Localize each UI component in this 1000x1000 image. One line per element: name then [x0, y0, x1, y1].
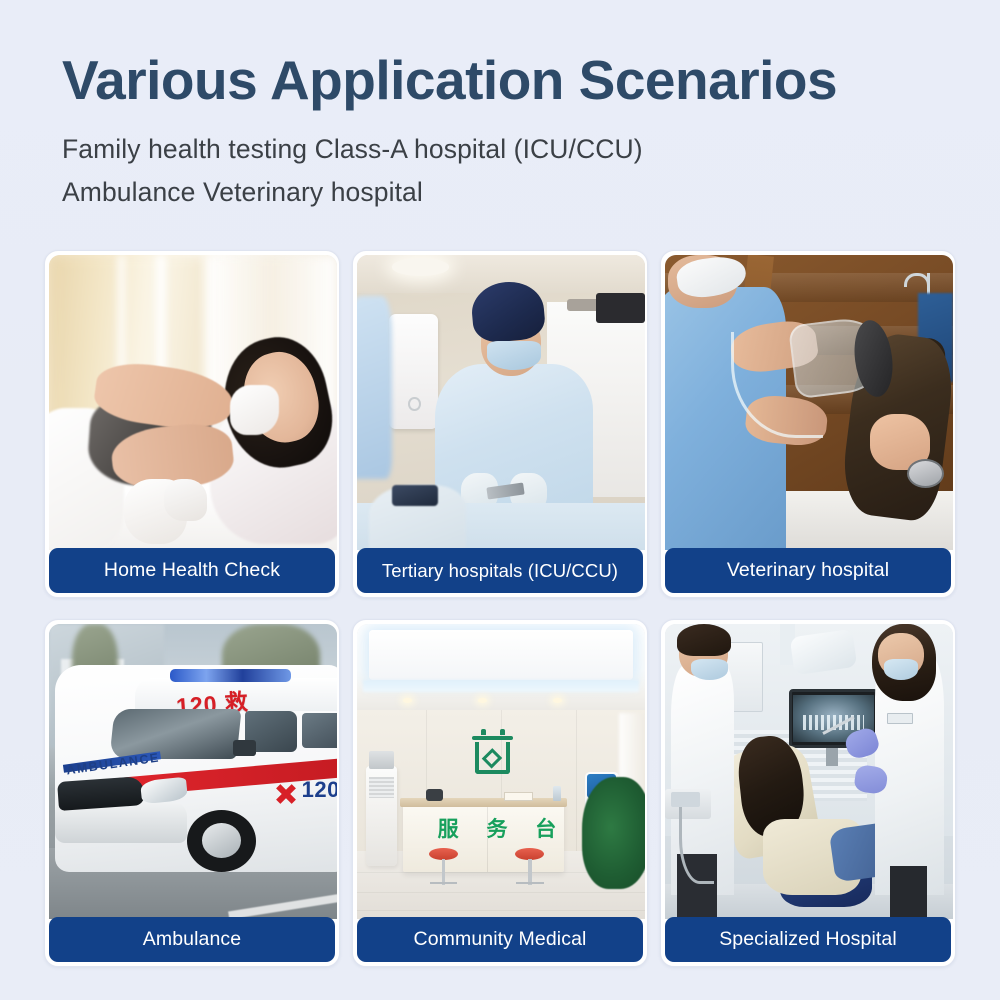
photo-woman-sick-in-bed — [49, 255, 337, 550]
scenario-card-community-medical[interactable]: 服 务 台 Communit — [352, 619, 648, 967]
card-caption-text: Veterinary hospital — [727, 559, 889, 582]
card-caption-text: Community Medical — [414, 928, 587, 951]
desk-bottle — [553, 786, 562, 801]
application-scenarios-page: Various Application Scenarios Family hea… — [0, 0, 1000, 1000]
stool-legs — [430, 882, 458, 894]
wall-monitor — [596, 293, 645, 323]
card-caption-bar: Ambulance — [49, 917, 335, 962]
surgical-mask — [487, 341, 542, 371]
cove-light — [363, 680, 639, 692]
dentist-left-hair — [677, 624, 732, 656]
dentist-left-mask — [691, 659, 728, 680]
desk-telephone — [426, 789, 443, 801]
red-stool — [513, 848, 548, 895]
clinic-logo-roof — [472, 736, 512, 740]
tray-control-panel — [671, 792, 700, 807]
downlight — [478, 698, 487, 703]
ambulance-body: 120 救 AMBULANCE 120 — [55, 665, 337, 872]
photo-dental-clinic — [665, 624, 953, 919]
assistant-blurred — [357, 296, 392, 479]
stool-post — [442, 859, 445, 885]
scenario-card-specialized-hospital[interactable]: Specialized Hospital — [660, 619, 956, 967]
ambulance-side-number: 120 — [302, 777, 337, 803]
stool-legs — [516, 882, 544, 894]
instrument-tray — [392, 485, 438, 506]
monitor-stand — [826, 748, 838, 766]
rear-window — [302, 713, 337, 748]
downlight — [553, 698, 562, 703]
ac-vent — [369, 777, 395, 798]
page-title: Various Application Scenarios — [62, 52, 1000, 110]
scenario-card-grid: Home Health Check — [44, 250, 956, 974]
name-badge — [887, 713, 913, 725]
clinic-logo-detail — [500, 729, 505, 735]
dentist-right-trousers — [890, 866, 927, 919]
emergency-light-bar — [170, 669, 291, 681]
wristwatch — [907, 459, 944, 489]
scenario-card-veterinary-hospital[interactable]: Veterinary hospital — [660, 250, 956, 598]
floor-tile-line — [357, 892, 645, 893]
card-caption-bar: Home Health Check — [49, 548, 335, 593]
crumpled-tissue — [164, 479, 207, 520]
photo-ambulance: 120 救 AMBULANCE 120 — [49, 624, 337, 919]
card-caption-text: Tertiary hospitals (ICU/CCU) — [382, 560, 618, 582]
wall-mounted-unit — [389, 314, 438, 429]
photo-surgeon-operating — [357, 255, 645, 550]
subtitle-block: Family health testing Class-A hospital (… — [62, 128, 1000, 214]
card-caption-bar: Tertiary hospitals (ICU/CCU) — [357, 548, 643, 593]
scenario-card-tertiary-hospitals[interactable]: Tertiary hospitals (ICU/CCU) — [352, 250, 648, 598]
clinic-logo-detail — [481, 729, 486, 735]
photo-clinic-reception: 服 务 台 — [357, 624, 645, 919]
ceiling-lamp — [392, 258, 450, 276]
tissue-at-nose — [230, 385, 279, 435]
front-wheel — [187, 810, 256, 872]
red-stool — [426, 848, 461, 895]
side-mirror — [233, 740, 256, 757]
subtitle-line-2: Ambulance Veterinary hospital — [62, 171, 1000, 214]
desk-placard — [504, 792, 533, 801]
recessed-ceiling-panel — [369, 630, 634, 680]
ambulance-hood-text: AMBULANCE — [66, 751, 161, 778]
potted-plant — [582, 777, 645, 889]
card-caption-bar: Specialized Hospital — [665, 917, 951, 962]
desk-counter-top — [400, 798, 567, 807]
scenario-card-ambulance[interactable]: 120 救 AMBULANCE 120 — [44, 619, 340, 967]
red-cross-icon — [270, 778, 301, 809]
card-caption-bar: Community Medical — [357, 917, 643, 962]
wall-seam — [576, 710, 577, 852]
card-caption-bar: Veterinary hospital — [665, 548, 951, 593]
windshield — [110, 709, 242, 759]
scenario-card-home-health-check[interactable]: Home Health Check — [44, 250, 340, 598]
downlight — [403, 698, 412, 703]
stool-post — [528, 859, 531, 885]
page-header: Various Application Scenarios Family hea… — [0, 0, 1000, 214]
card-caption-text: Home Health Check — [104, 559, 280, 582]
service-desk-sign-text: 服 务 台 — [438, 813, 568, 843]
ac-top-box — [369, 751, 395, 769]
subtitle-line-1: Family health testing Class-A hospital (… — [62, 128, 1000, 171]
photo-vet-with-dog — [665, 255, 953, 550]
front-grille — [57, 776, 145, 811]
card-caption-text: Specialized Hospital — [719, 928, 897, 951]
floor-tile-line — [357, 910, 645, 911]
card-caption-text: Ambulance — [143, 928, 241, 951]
